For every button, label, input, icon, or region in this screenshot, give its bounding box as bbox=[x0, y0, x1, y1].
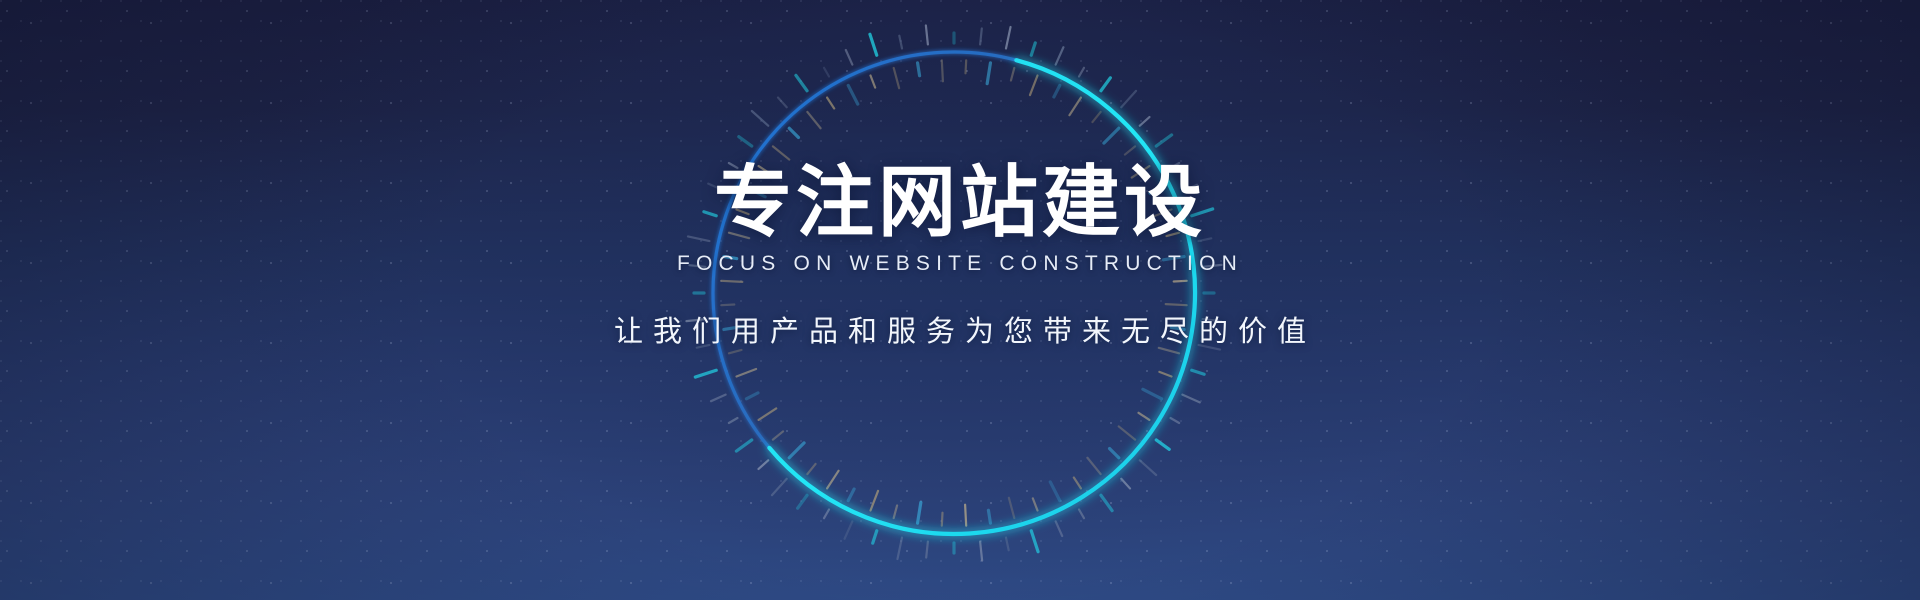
hero-banner: 专注网站建设 FOCUS ON WEBSITE CONSTRUCTION 让我们… bbox=[0, 0, 1920, 600]
english-subtitle: FOCUS ON WEBSITE CONSTRUCTION bbox=[677, 252, 1243, 276]
tagline: 让我们用产品和服务为您带来无尽的价值 bbox=[604, 308, 1316, 350]
page-title: 专注网站建设 bbox=[714, 164, 1206, 242]
banner-content: 专注网站建设 FOCUS ON WEBSITE CONSTRUCTION 让我们… bbox=[0, 0, 1920, 600]
